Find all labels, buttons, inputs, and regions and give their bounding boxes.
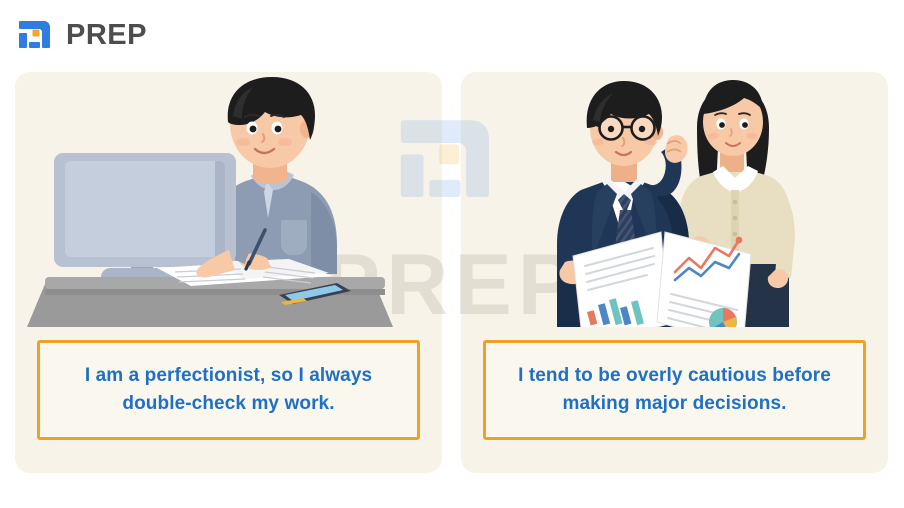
- prep-logo-mark-icon: [18, 16, 56, 54]
- brand-wordmark: PREP: [66, 21, 147, 50]
- quote-box-left: I am a perfectionist, so I always double…: [37, 340, 420, 440]
- content-card-left: I am a perfectionist, so I always double…: [15, 72, 442, 473]
- quote-box-right: I tend to be overly cautious before maki…: [483, 340, 866, 440]
- person-working-at-desk-illustration: [15, 72, 442, 327]
- quote-text-right: I tend to be overly cautious before maki…: [486, 362, 863, 417]
- content-card-right: I tend to be overly cautious before maki…: [461, 72, 888, 473]
- quote-text-left: I am a perfectionist, so I always double…: [40, 362, 417, 417]
- brand-header: PREP: [18, 14, 147, 56]
- two-colleagues-reviewing-reports-illustration: [461, 72, 888, 327]
